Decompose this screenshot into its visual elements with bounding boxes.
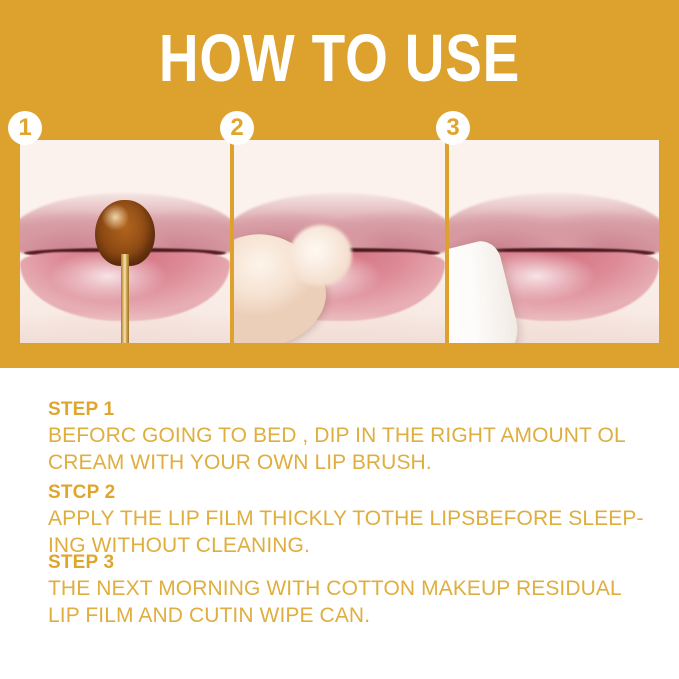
- page-title: HOW TO USE: [61, 23, 618, 95]
- step-body-line: LIP FILM AND CUTIN WIPE CAN.: [48, 602, 648, 629]
- step-image-2: [230, 140, 444, 343]
- step-badge-3: 3: [436, 111, 470, 145]
- step-heading-3: STEP 3: [48, 551, 648, 575]
- applicator-handle-icon: [121, 254, 129, 343]
- step-badge-1: 1: [8, 111, 42, 145]
- step-image-3: [445, 140, 659, 343]
- how-to-use-poster: HOW TO USE: [0, 0, 679, 679]
- step-body-1: BEFORC GOING TO BED , DIP IN THE RIGHT A…: [48, 422, 648, 476]
- steps-section: STEP 1 BEFORC GOING TO BED , DIP IN THE …: [0, 368, 679, 679]
- image-strip: [20, 140, 659, 343]
- header-band: HOW TO USE: [0, 0, 679, 368]
- step-heading-2: STCP 2: [48, 481, 648, 505]
- step-block-1: STEP 1 BEFORC GOING TO BED , DIP IN THE …: [48, 398, 648, 476]
- step-block-2: STCP 2 APPLY THE LIP FILM THICKLY TOTHE …: [48, 481, 648, 559]
- step-heading-1: STEP 1: [48, 398, 648, 422]
- step-block-3: STEP 3 THE NEXT MORNING WITH COTTON MAKE…: [48, 551, 648, 629]
- step-image-1: [20, 140, 230, 343]
- step-body-3: THE NEXT MORNING WITH COTTON MAKEUP RESI…: [48, 575, 648, 629]
- step-body-line: BEFORC GOING TO BED , DIP IN THE RIGHT A…: [48, 422, 648, 449]
- step-body-line: CREAM WITH YOUR OWN LIP BRUSH.: [48, 449, 648, 476]
- step-badge-2: 2: [220, 111, 254, 145]
- step-body-line: APPLY THE LIP FILM THICKLY TOTHE LIPSBEF…: [48, 505, 648, 532]
- step-body-line: THE NEXT MORNING WITH COTTON MAKEUP RESI…: [48, 575, 648, 602]
